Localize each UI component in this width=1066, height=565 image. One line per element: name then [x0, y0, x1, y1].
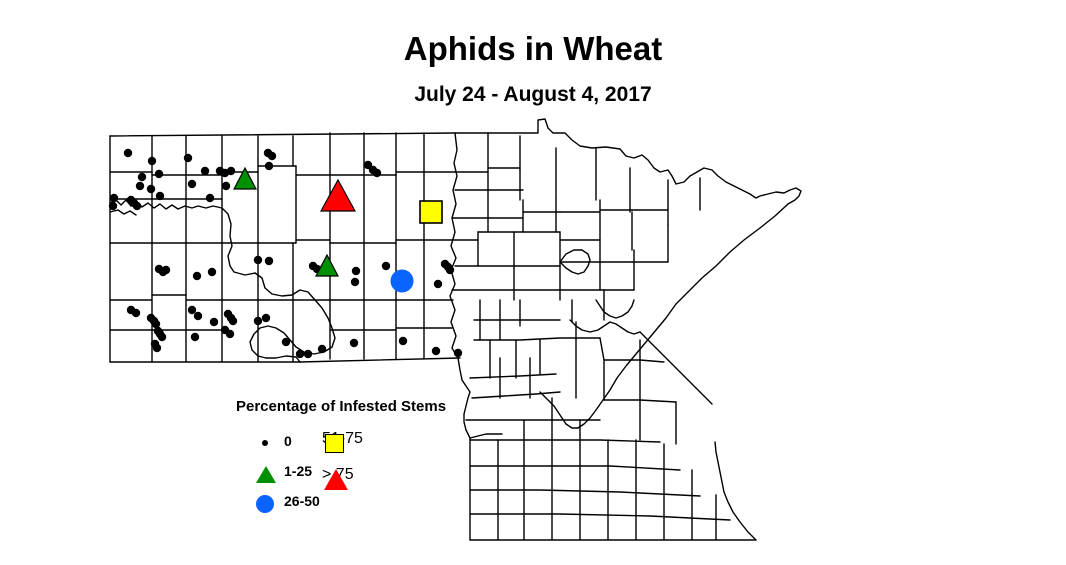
legend-item-51-75: 51-75 [322, 430, 452, 466]
legend-item-label: 1-25 [284, 463, 312, 479]
legend-title: Percentage of Infested Stems [236, 398, 446, 415]
legend-item-over-75: > 75 [322, 466, 452, 502]
legend-item-label: 26-50 [284, 493, 320, 509]
legend: Percentage of Infested Stems 0 1-25 26-5… [236, 398, 486, 516]
black-dot-icon [254, 430, 280, 456]
legend-column-right: 51-75 > 75 [322, 430, 452, 502]
data-points-51-75 [420, 201, 442, 223]
data-points-26-50 [391, 270, 413, 292]
blue-circle-icon [254, 490, 280, 516]
green-triangle-icon [254, 460, 280, 486]
legend-item-label: 0 [284, 433, 292, 449]
map-graphic [0, 0, 1066, 565]
map-page: Aphids in Wheat July 24 - August 4, 2017 [0, 0, 1066, 565]
